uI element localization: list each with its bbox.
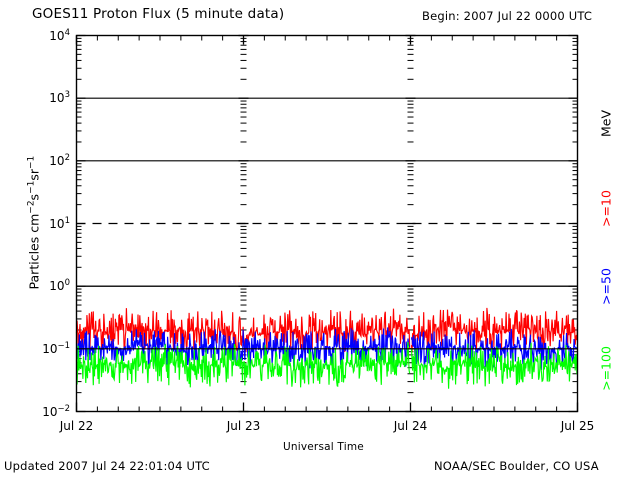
y-tick-label: 103 [22, 90, 70, 105]
legend-ge50: >=50 [599, 252, 614, 322]
legend-ge100: >=100 [599, 334, 614, 404]
y-tick-label: 104 [22, 28, 70, 43]
x-tick-label: Jul 22 [37, 419, 117, 433]
x-tick-label: Jul 25 [538, 419, 618, 433]
x-tick-label: Jul 23 [204, 419, 284, 433]
proton-flux-plot [0, 0, 640, 480]
legend-ge10: >=10 [599, 174, 614, 244]
x-tick-label: Jul 24 [371, 419, 451, 433]
y-tick-label: 102 [22, 153, 70, 168]
y-tick-label: 10−2 [22, 404, 70, 419]
y-tick-label: 100 [22, 278, 70, 293]
legend-unit-mev: MeV [599, 89, 614, 159]
y-tick-label: 101 [22, 216, 70, 231]
y-tick-label: 10−1 [22, 341, 70, 356]
